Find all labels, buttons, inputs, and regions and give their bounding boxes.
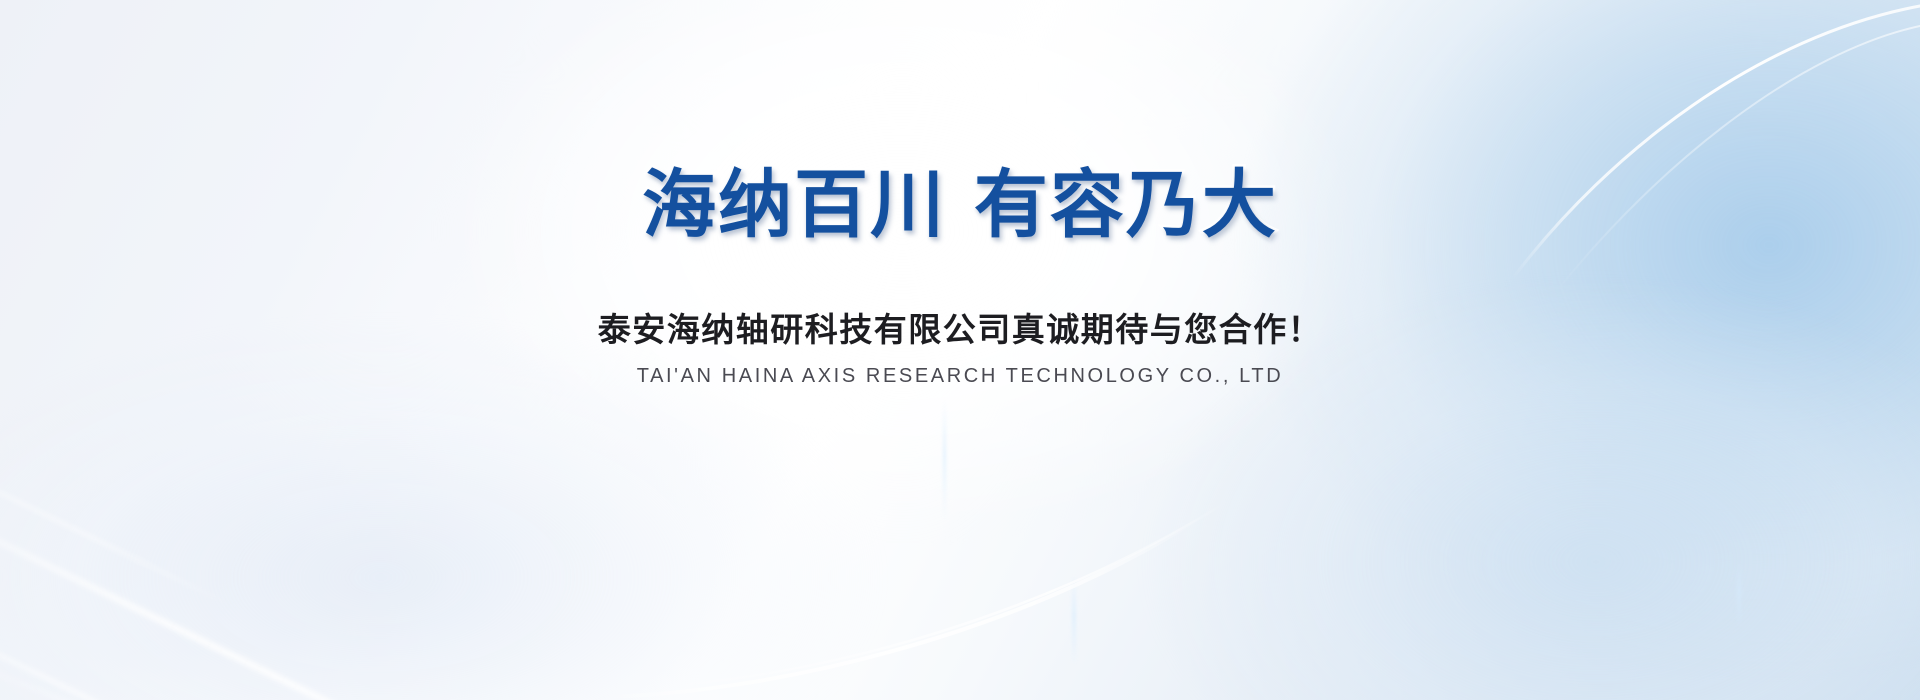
banner-headline: 海纳百川 有容乃大 [0, 168, 1920, 242]
banner-subtitle-english: TAI'AN HAINA AXIS RESEARCH TECHNOLOGY CO… [0, 363, 1920, 389]
banner-subtitle-chinese: 泰安海纳轴研科技有限公司真诚期待与您合作！ [0, 310, 1920, 350]
hero-banner: 海纳百川 有容乃大 泰安海纳轴研科技有限公司真诚期待与您合作！ TAI'AN H… [0, 0, 1920, 700]
banner-content: 海纳百川 有容乃大 泰安海纳轴研科技有限公司真诚期待与您合作！ TAI'AN H… [0, 0, 1920, 700]
